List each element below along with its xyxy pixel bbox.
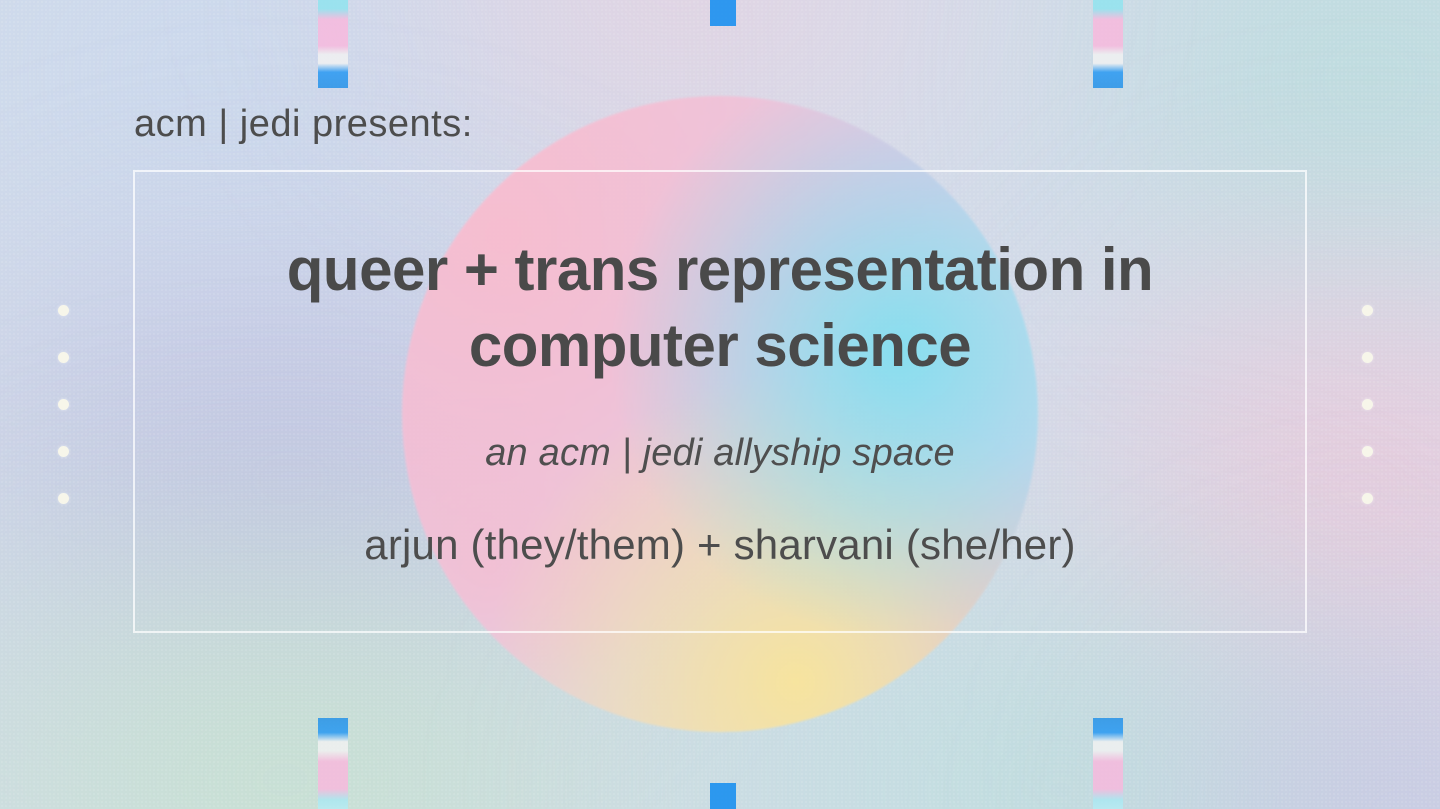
slide-canvas: acm | jedi presents: queer + trans repre… xyxy=(0,0,1440,809)
slide-content: acm | jedi presents: queer + trans repre… xyxy=(0,0,1440,809)
page-title: queer + trans representation in computer… xyxy=(0,232,1440,383)
eyebrow-text: acm | jedi presents: xyxy=(134,103,473,146)
title-line-2: computer science xyxy=(0,308,1440,384)
presenters-text: arjun (they/them) + sharvani (she/her) xyxy=(0,521,1440,569)
title-line-1: queer + trans representation in xyxy=(0,232,1440,308)
subtitle-text: an acm | jedi allyship space xyxy=(0,432,1440,475)
